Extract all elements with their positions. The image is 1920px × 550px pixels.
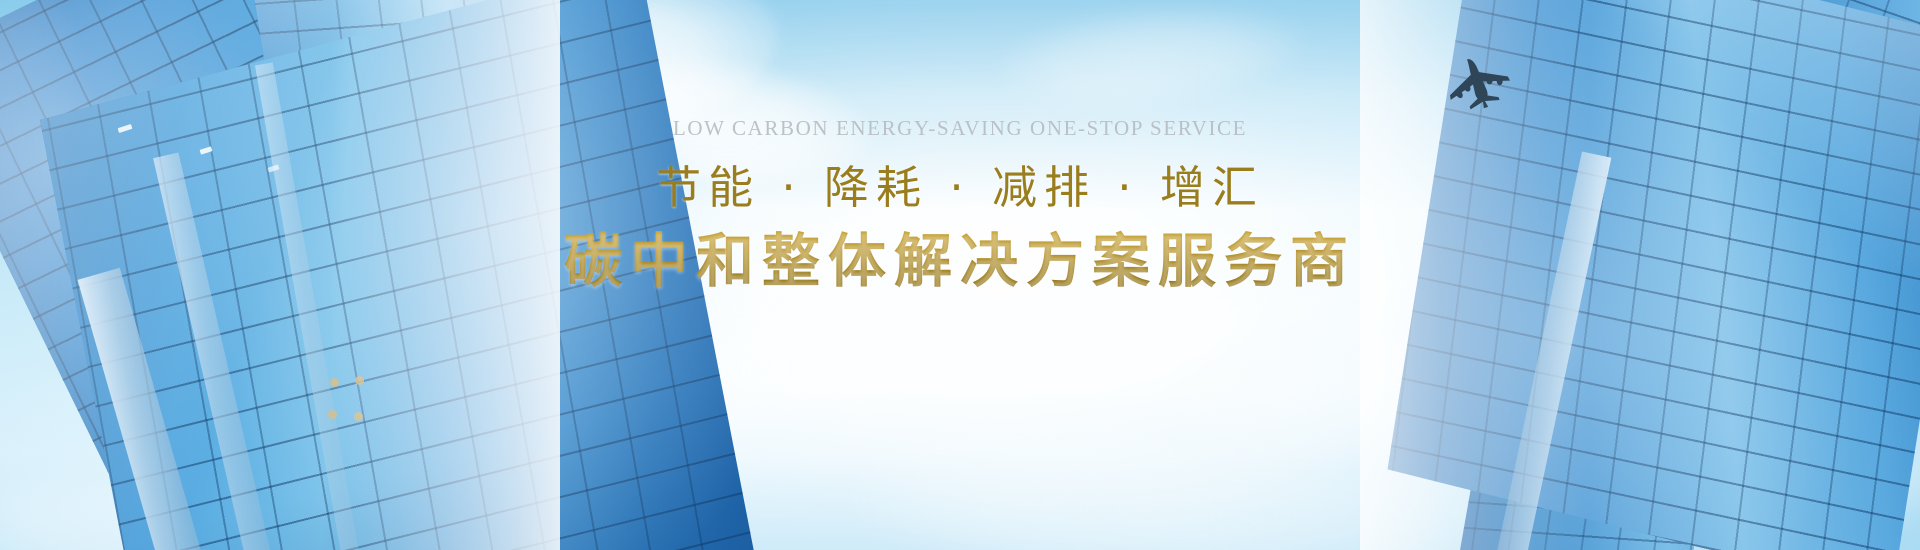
hero-banner: LOW CARBON ENERGY-SAVING ONE-STOP SERVIC…	[0, 0, 1920, 550]
window-highlight	[330, 378, 339, 387]
window-highlight	[355, 376, 364, 385]
window-highlight	[354, 412, 363, 421]
window-highlight	[328, 410, 337, 419]
